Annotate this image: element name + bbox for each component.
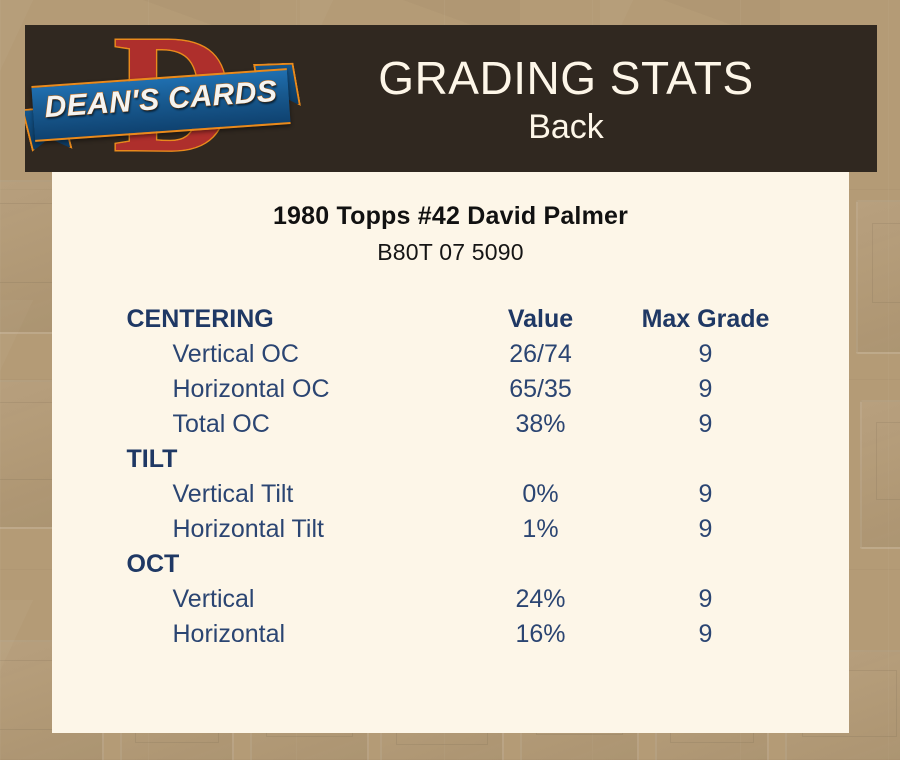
background-card-ghost	[860, 400, 900, 549]
table-row: Horizontal16%9	[121, 617, 781, 652]
page-root: D D DEAN'S CARDS GRADING STATS Back 1980…	[0, 0, 900, 760]
deans-cards-logo[interactable]: D D DEAN'S CARDS	[25, 25, 295, 172]
table-row: Vertical24%9	[121, 582, 781, 617]
grading-stats-table: CENTERINGValueMax GradeVertical OC26/749…	[121, 302, 781, 652]
table-row: Vertical Tilt0%9	[121, 477, 781, 512]
stat-max-grade: 9	[631, 617, 781, 652]
stat-label: Horizontal Tilt	[121, 512, 451, 547]
stat-label: Horizontal	[121, 617, 451, 652]
stat-max-grade: 9	[631, 582, 781, 617]
stat-max-grade: 9	[631, 512, 781, 547]
stat-value: 1%	[451, 512, 631, 547]
table-row: Vertical OC26/749	[121, 337, 781, 372]
card-title: 1980 Topps #42 David Palmer	[52, 202, 849, 231]
page-subtitle: Back	[295, 107, 837, 147]
page-title: GRADING STATS	[295, 51, 837, 105]
stats-section-row: OCT	[121, 547, 781, 582]
stat-max-grade: 9	[631, 337, 781, 372]
stat-label: Total OC	[121, 407, 451, 442]
card-code: B80T 07 5090	[52, 239, 849, 266]
stat-value: 26/74	[451, 337, 631, 372]
stat-label: Vertical OC	[121, 337, 451, 372]
stat-max-grade: 9	[631, 372, 781, 407]
stat-value: 0%	[451, 477, 631, 512]
table-row: Horizontal OC65/359	[121, 372, 781, 407]
header-title-group: GRADING STATS Back	[295, 51, 877, 147]
column-header-value: Value	[451, 302, 631, 337]
background-card-ghost	[856, 200, 900, 354]
content-panel: 1980 Topps #42 David Palmer B80T 07 5090…	[52, 172, 849, 733]
table-row: Horizontal Tilt1%9	[121, 512, 781, 547]
table-row: Total OC38%9	[121, 407, 781, 442]
stat-max-grade: 9	[631, 407, 781, 442]
section-heading: OCT	[121, 547, 451, 582]
header-bar: D D DEAN'S CARDS GRADING STATS Back	[25, 25, 877, 172]
stats-section-row: TILT	[121, 442, 781, 477]
stat-value: 24%	[451, 582, 631, 617]
section-heading: CENTERING	[121, 302, 451, 337]
stat-value: 65/35	[451, 372, 631, 407]
stat-value: 38%	[451, 407, 631, 442]
stat-value: 16%	[451, 617, 631, 652]
stat-label: Horizontal OC	[121, 372, 451, 407]
stat-max-grade: 9	[631, 477, 781, 512]
section-heading: TILT	[121, 442, 451, 477]
stat-label: Vertical Tilt	[121, 477, 451, 512]
stats-section-row: CENTERINGValueMax Grade	[121, 302, 781, 337]
stat-label: Vertical	[121, 582, 451, 617]
column-header-max-grade: Max Grade	[631, 302, 781, 337]
